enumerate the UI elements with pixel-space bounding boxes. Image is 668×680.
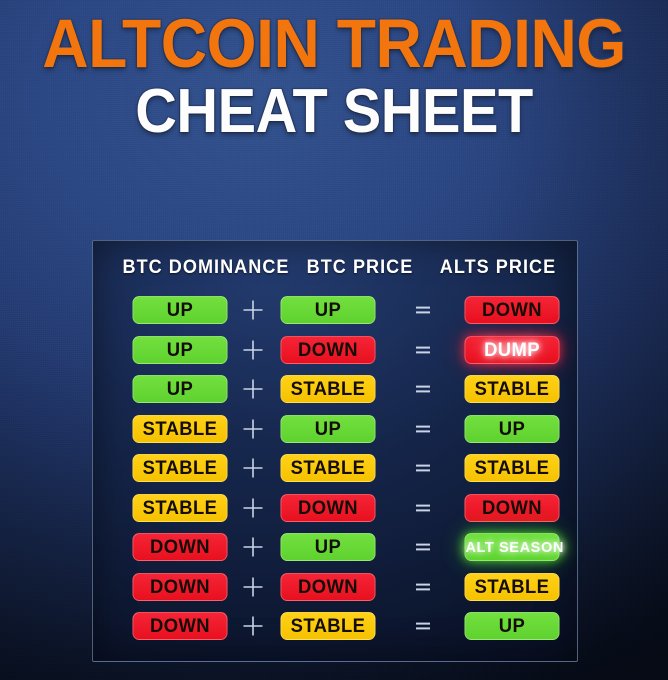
table-row: DOWNSTABLEUP — [93, 610, 577, 650]
alts-price-badge: STABLE — [464, 573, 559, 601]
table-body: UPUPDOWNUPDOWNDUMPUPSTABLESTABLESTABLEUP… — [93, 294, 577, 650]
equals-icon — [409, 375, 437, 403]
title-line-primary: ALTCOIN TRADING — [23, 10, 644, 78]
plus-icon — [239, 296, 267, 324]
table-row: DOWNUPALT SEASON — [93, 531, 577, 571]
column-header-btc-price: BTC PRICE — [270, 257, 451, 279]
alts-price-badge: ALT SEASON — [464, 533, 559, 561]
alts-price-badge: STABLE — [464, 375, 559, 403]
btc-price-badge: UP — [280, 415, 375, 443]
table-row: STABLEDOWNDOWN — [93, 492, 577, 532]
alts-price-badge: UP — [464, 612, 559, 640]
equals-icon — [409, 336, 437, 364]
btc-dominance-badge: STABLE — [132, 494, 227, 522]
plus-icon — [239, 336, 267, 364]
equals-icon — [409, 612, 437, 640]
btc-price-badge: DOWN — [280, 573, 375, 601]
equals-icon — [409, 415, 437, 443]
btc-dominance-badge: DOWN — [132, 533, 227, 561]
equals-icon — [409, 296, 437, 324]
equals-icon — [409, 494, 437, 522]
table-row: STABLEUPUP — [93, 413, 577, 453]
plus-icon — [239, 494, 267, 522]
btc-price-badge: DOWN — [280, 494, 375, 522]
btc-dominance-badge: STABLE — [132, 415, 227, 443]
plus-icon — [239, 573, 267, 601]
table-row: UPUPDOWN — [93, 294, 577, 334]
table-row: DOWNDOWNSTABLE — [93, 571, 577, 611]
plus-icon — [239, 533, 267, 561]
alts-price-badge: UP — [464, 415, 559, 443]
cheat-sheet-panel: BTC DOMINANCE BTC PRICE ALTS PRICE UPUPD… — [92, 240, 578, 662]
plus-icon — [239, 375, 267, 403]
btc-dominance-badge: DOWN — [132, 612, 227, 640]
btc-price-badge: UP — [280, 533, 375, 561]
btc-dominance-badge: UP — [132, 336, 227, 364]
btc-price-badge: STABLE — [280, 612, 375, 640]
btc-dominance-badge: STABLE — [132, 454, 227, 482]
equals-icon — [409, 454, 437, 482]
poster-canvas: ALTCOIN TRADING CHEAT SHEET BTC DOMINANC… — [0, 0, 668, 680]
btc-price-badge: STABLE — [280, 454, 375, 482]
btc-dominance-badge: UP — [132, 375, 227, 403]
alts-price-badge: DUMP — [464, 336, 559, 364]
plus-icon — [239, 612, 267, 640]
equals-icon — [409, 573, 437, 601]
btc-dominance-badge: DOWN — [132, 573, 227, 601]
equals-icon — [409, 533, 437, 561]
plus-icon — [239, 415, 267, 443]
plus-icon — [239, 454, 267, 482]
alts-price-badge: STABLE — [464, 454, 559, 482]
table-row: STABLESTABLESTABLE — [93, 452, 577, 492]
btc-dominance-badge: UP — [132, 296, 227, 324]
column-header-alts-price: ALTS PRICE — [427, 257, 570, 279]
title-line-secondary: CHEAT SHEET — [23, 82, 644, 143]
table-row: UPSTABLESTABLE — [93, 373, 577, 413]
table-header-row: BTC DOMINANCE BTC PRICE ALTS PRICE — [93, 257, 577, 291]
alts-price-badge: DOWN — [464, 296, 559, 324]
btc-price-badge: UP — [280, 296, 375, 324]
table-row: UPDOWNDUMP — [93, 334, 577, 374]
alts-price-badge: DOWN — [464, 494, 559, 522]
poster-title: ALTCOIN TRADING CHEAT SHEET — [0, 10, 668, 142]
btc-price-badge: STABLE — [280, 375, 375, 403]
btc-price-badge: DOWN — [280, 336, 375, 364]
